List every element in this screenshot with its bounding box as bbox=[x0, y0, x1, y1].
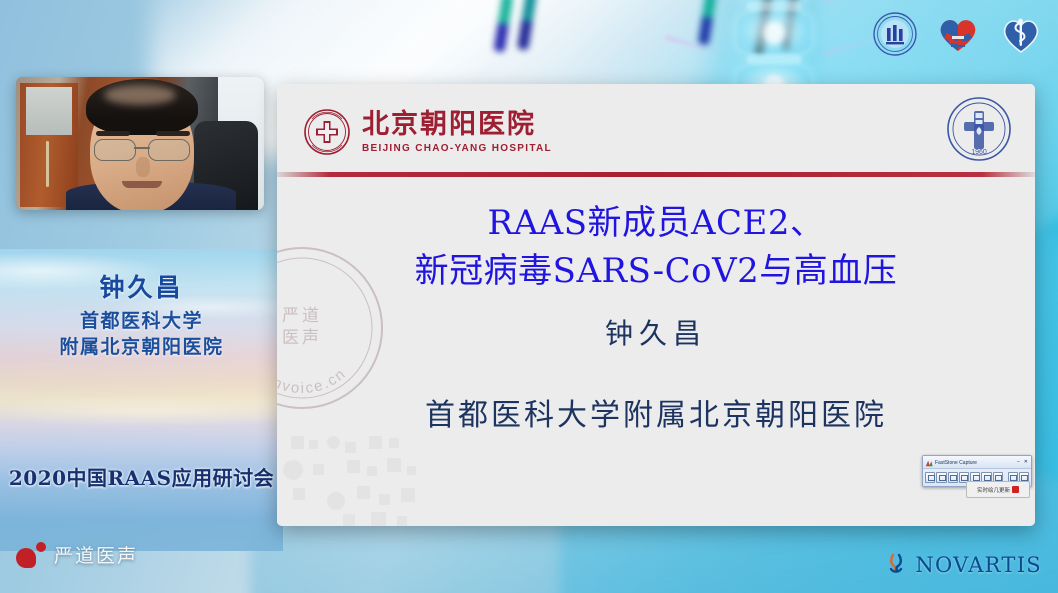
novartis-flame-icon bbox=[885, 553, 907, 577]
close-icon[interactable]: ✕ bbox=[1023, 459, 1029, 466]
capture-window-icon[interactable] bbox=[925, 472, 935, 483]
platform-brand-text: 严道医声 bbox=[54, 541, 138, 568]
panel-speaker-affiliation: 首都医科大学 附属北京朝阳医院 bbox=[0, 308, 283, 360]
affiliation-line-2: 附属北京朝阳医院 bbox=[0, 334, 283, 360]
sponsor-logo: NOVARTIS bbox=[885, 553, 1042, 577]
circular-institutional-emblem-icon bbox=[872, 11, 918, 57]
screen-capture-root: 钟久昌 首都医科大学 附属北京朝阳医院 2020中国RAAS应用研讨会 严道医声 bbox=[0, 0, 1058, 593]
slide-title: RAAS新成员ACE2、 新冠病毒SARS-CoV2与高血压 bbox=[277, 199, 1035, 295]
faststone-title-bar[interactable]: FastStone Capture – ✕ bbox=[923, 456, 1031, 469]
organization-logos bbox=[872, 11, 1044, 57]
capture-tooltip-text: 实时绘几更新 bbox=[977, 486, 1010, 494]
speech-bubble-icon bbox=[16, 542, 46, 568]
faststone-app-icon bbox=[925, 459, 933, 467]
capture-tooltip: 实时绘几更新 bbox=[966, 481, 1030, 498]
hospital-logo: 北京朝阳医院 BEIJING CHAO-YANG HOSPITAL bbox=[303, 108, 552, 156]
capture-region-icon[interactable] bbox=[948, 472, 958, 483]
sponsor-name: NOVARTIS bbox=[915, 553, 1042, 577]
capital-medical-university-seal-icon: 1960 bbox=[945, 95, 1013, 163]
decorative-mosaic-pattern bbox=[283, 436, 433, 526]
caduceus-heart-emblem-icon bbox=[998, 11, 1044, 57]
speaker-webcam-feed[interactable] bbox=[16, 77, 264, 210]
slide-header: 北京朝阳医院 BEIJING CHAO-YANG HOSPITAL 1960 bbox=[277, 84, 1035, 172]
hospital-name-cn: 北京朝阳医院 bbox=[362, 111, 552, 138]
conference-title-banner: 2020中国RAAS应用研讨会 bbox=[0, 462, 283, 491]
slide-author: 钟久昌 bbox=[277, 312, 1035, 352]
slide-title-line-2: 新冠病毒SARS-CoV2与高血压 bbox=[277, 247, 1035, 295]
svg-text:1960: 1960 bbox=[971, 149, 987, 156]
slide-title-line-1: RAAS新成员ACE2、 bbox=[277, 199, 1035, 247]
speaker-side-panel: 钟久昌 首都医科大学 附属北京朝阳医院 2020中国RAAS应用研讨会 严道医声 bbox=[0, 0, 283, 593]
affiliation-line-1: 首都医科大学 bbox=[0, 308, 283, 334]
platform-branding: 严道医声 bbox=[16, 541, 138, 568]
minimize-button[interactable]: – bbox=[1016, 459, 1021, 466]
slide-organization: 首都医科大学附属北京朝阳医院 bbox=[277, 390, 1035, 434]
recording-indicator-icon bbox=[1012, 486, 1019, 493]
hospital-name-en: BEIJING CHAO-YANG HOSPITAL bbox=[362, 143, 552, 154]
panel-speaker-name: 钟久昌 bbox=[0, 268, 283, 304]
faststone-window-title: FastStone Capture bbox=[935, 460, 1014, 466]
heart-handshake-emblem-icon bbox=[935, 11, 981, 57]
hospital-seal-icon bbox=[303, 108, 351, 156]
capture-fullscreen-icon[interactable] bbox=[936, 472, 946, 483]
